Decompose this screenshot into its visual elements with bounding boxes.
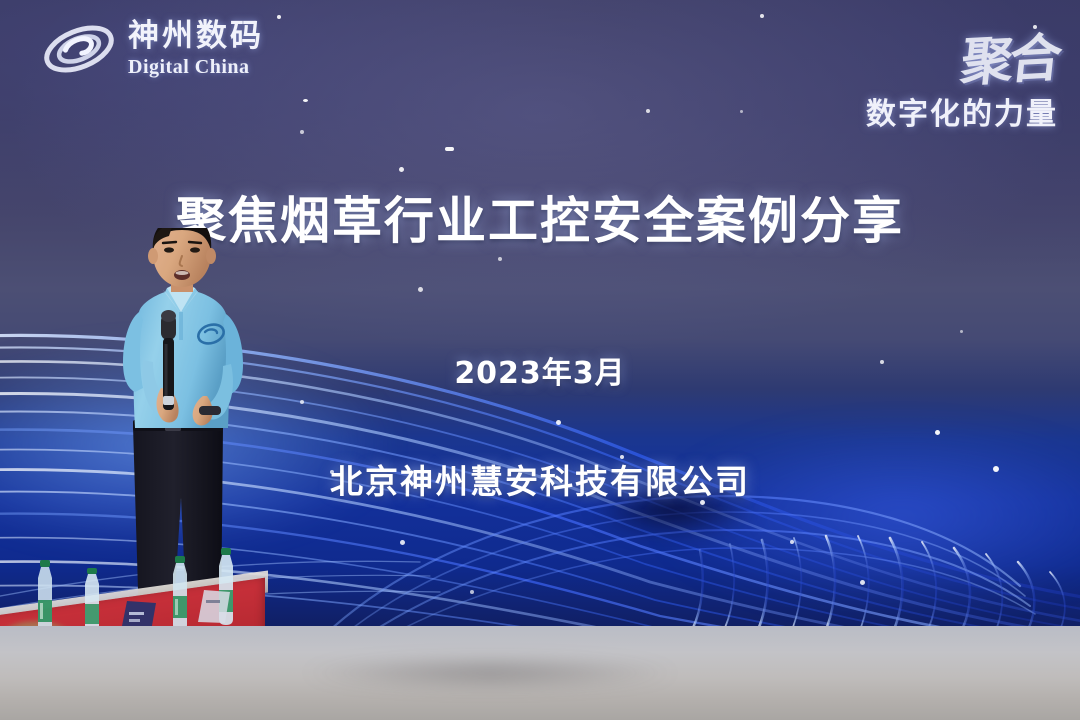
microphone-icon (161, 310, 176, 410)
brand-name-en: Digital China (128, 57, 264, 77)
name-plate (196, 588, 236, 629)
brand-logo-left-text: 神州数码 Digital China (128, 21, 264, 77)
brand-name-cn: 神州数码 (128, 21, 264, 52)
digital-china-spiral-icon (42, 18, 116, 80)
particle-dot (445, 147, 454, 151)
event-tagline: 数字化的力量 (866, 89, 1058, 133)
event-calligraphy: 聚合 (958, 16, 1063, 96)
particle-dot (498, 257, 502, 261)
particle-dot (277, 15, 281, 19)
screenshot-root: 神州数码 Digital China 聚合 数字化的力量 聚焦烟草行业工控安全案… (0, 0, 1080, 720)
particle-dot (303, 99, 308, 102)
particle-dot (418, 287, 423, 292)
presenter-clicker (199, 406, 221, 415)
particle-dot (646, 109, 650, 113)
stage-floor-shadow (230, 650, 750, 696)
water-bottle (165, 556, 195, 637)
brand-logo-right: 聚合 数字化的力量 (866, 18, 1058, 133)
particle-dot (399, 167, 404, 172)
particle-dot (760, 14, 764, 18)
particle-dot (740, 110, 743, 113)
brand-logo-left: 神州数码 Digital China (42, 18, 264, 80)
particle-dot (300, 130, 304, 134)
